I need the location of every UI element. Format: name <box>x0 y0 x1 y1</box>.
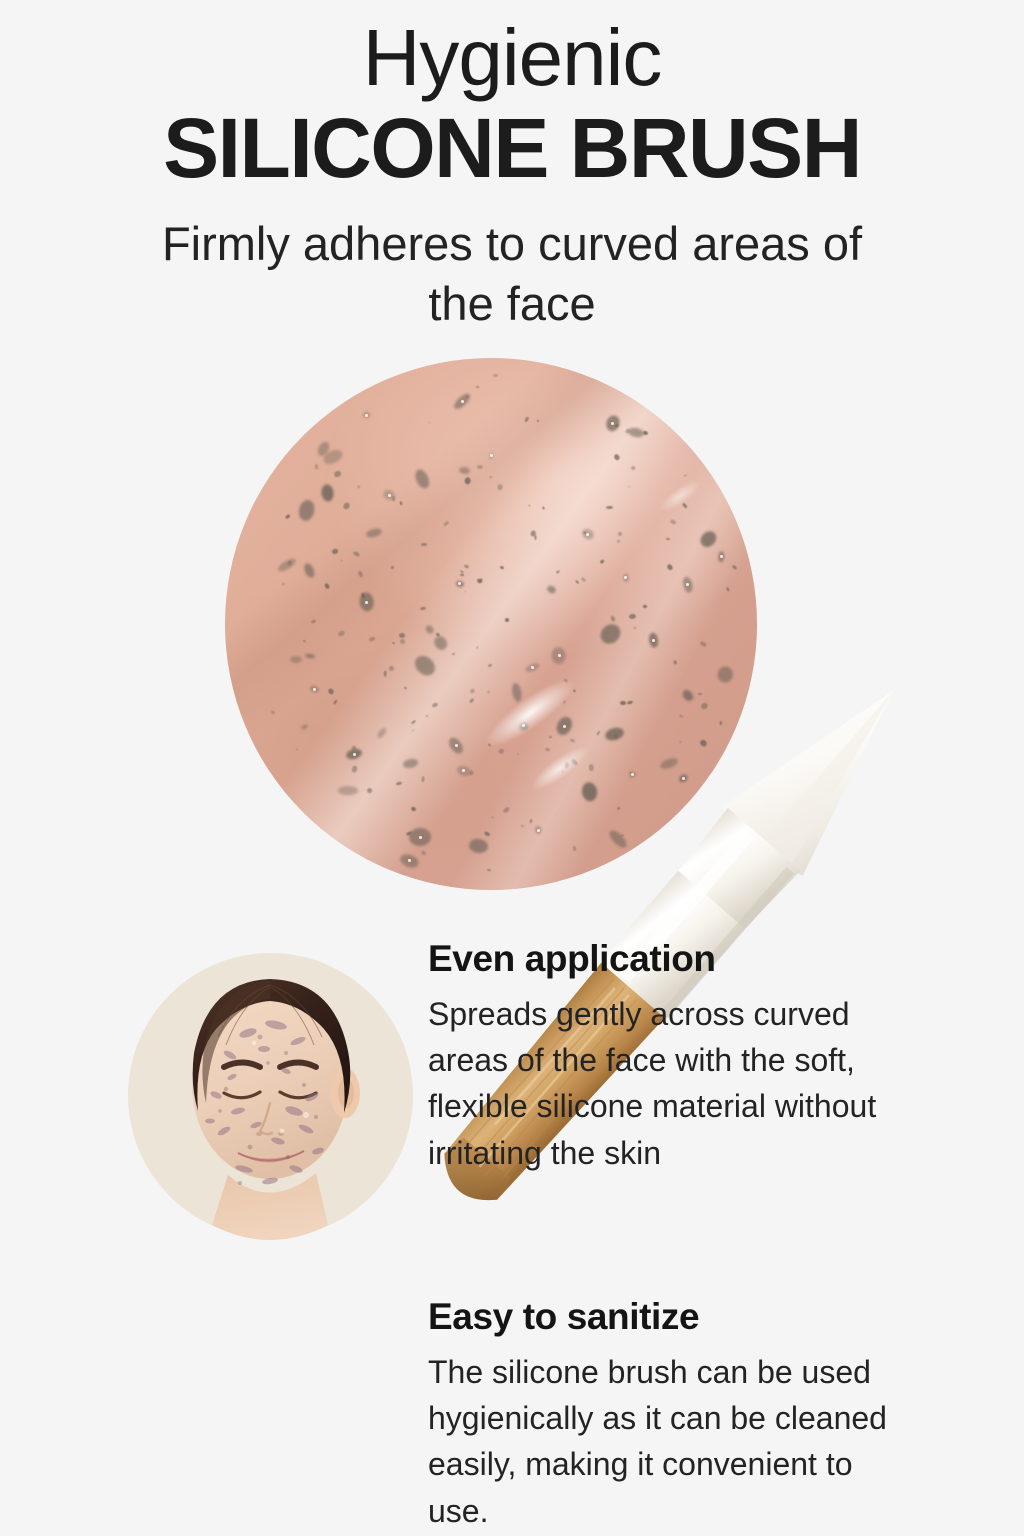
page-subtitle: Firmly adheres to curved areas of the fa… <box>0 214 1024 334</box>
model-face-photo <box>120 925 420 1265</box>
page-title-line-1: Hygienic <box>0 18 1024 98</box>
mask-swatch-image <box>225 358 757 890</box>
page-title-line-2: SILICONE BRUSH <box>0 104 1024 192</box>
feature-heading: Even application <box>428 938 920 981</box>
feature-body: The silicone brush can be used hygienica… <box>428 1349 920 1535</box>
face-illustration <box>120 925 420 1265</box>
mask-shadow-band <box>225 358 757 890</box>
mask-swatch-circle <box>225 358 757 890</box>
feature-even-application: Even application Spreads gently across c… <box>428 938 920 1176</box>
feature-body: Spreads gently across curved areas of th… <box>428 991 920 1177</box>
header: Hygienic SILICONE BRUSH Firmly adheres t… <box>0 0 1024 335</box>
feature-heading: Easy to sanitize <box>428 1296 920 1339</box>
feature-easy-to-sanitize: Easy to sanitize The silicone brush can … <box>428 1296 920 1534</box>
